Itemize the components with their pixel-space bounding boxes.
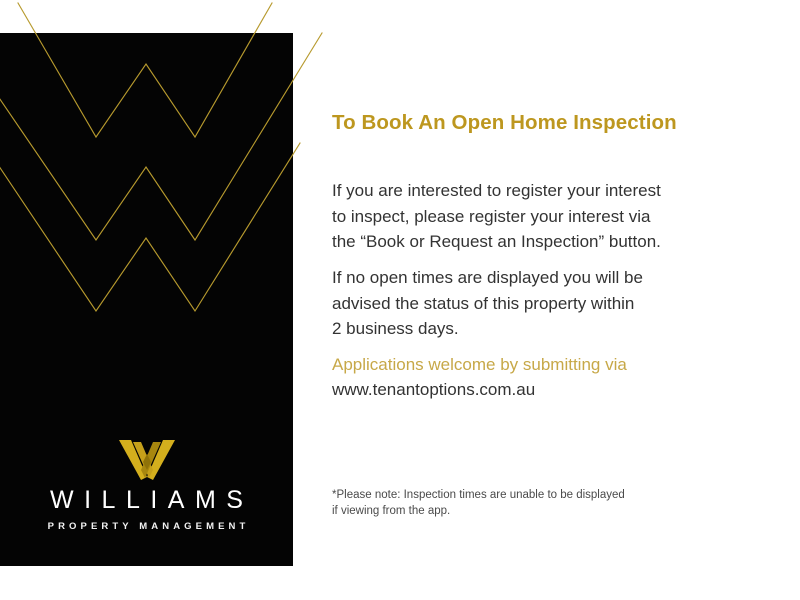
paragraph-line: 2 business days.	[332, 319, 459, 338]
williams-w-mark-icon	[119, 440, 175, 480]
brand-tagline: PROPERTY MANAGEMENT	[0, 522, 293, 532]
applications-url-link[interactable]: www.tenantoptions.com.au	[332, 377, 535, 403]
instructions-paragraph: If you are interested to register your i…	[332, 178, 661, 255]
paragraph-line: advised the status of this property with…	[332, 294, 634, 313]
page-title: To Book An Open Home Inspection	[332, 111, 677, 136]
brand-wordmark: WILLIAMS	[0, 488, 293, 513]
paragraph-line: to inspect, please register your interes…	[332, 207, 650, 226]
footnote: *Please note: Inspection times are unabl…	[332, 487, 625, 519]
footnote-line: *Please note: Inspection times are unabl…	[332, 489, 625, 501]
paragraph-line: If you are interested to register your i…	[332, 181, 661, 200]
applications-cta-text: Applications welcome by submitting via	[332, 352, 627, 378]
footnote-line: if viewing from the app.	[332, 505, 450, 517]
brand-logo-lockup: WILLIAMS PROPERTY MANAGEMENT	[0, 440, 293, 532]
paragraph-line: If no open times are displayed you will …	[332, 268, 643, 287]
paragraph-line: the “Book or Request an Inspection” butt…	[332, 232, 661, 251]
status-paragraph: If no open times are displayed you will …	[332, 265, 643, 342]
inspection-booking-slide: WILLIAMS PROPERTY MANAGEMENT To Book An …	[0, 0, 800, 600]
content-column: To Book An Open Home Inspection If you a…	[332, 0, 772, 600]
